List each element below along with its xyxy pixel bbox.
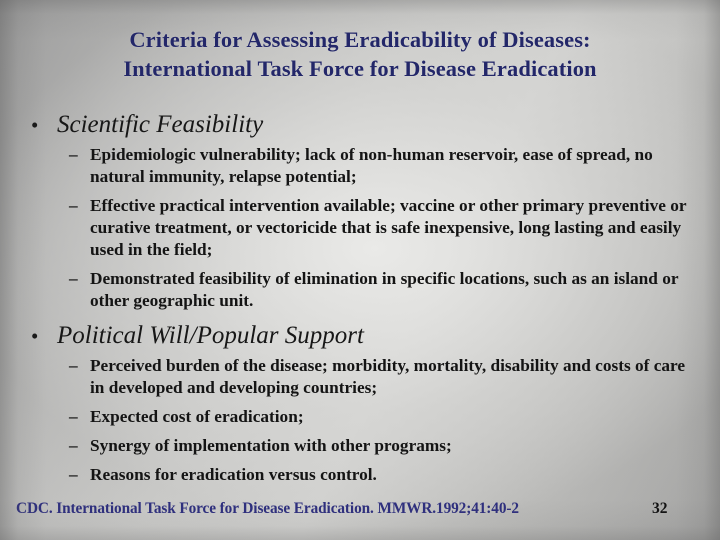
list-item-label: Epidemiologic vulnerability; lack of non… [90,145,653,186]
page-number: 32 [652,498,668,520]
dash-bullet-icon: – [69,435,78,457]
list-item-label: Perceived burden of the disease; morbidi… [90,356,685,397]
dash-bullet-icon: – [69,144,78,166]
list-item: – Effective practical intervention avail… [0,195,720,261]
slide-title-line-1: Criteria for Assessing Eradicability of … [22,25,698,54]
slide-title: Criteria for Assessing Eradicability of … [22,25,698,83]
list-item-label: Reasons for eradication versus control. [90,465,377,484]
slide-body: • Scientific Feasibility – Epidemiologic… [0,108,720,493]
list-item-label: Demonstrated feasibility of elimination … [90,269,678,310]
list-item: – Reasons for eradication versus control… [0,464,720,486]
list-item-label: Expected cost of eradication; [90,407,304,426]
slide-title-line-2: International Task Force for Disease Era… [22,54,698,83]
list-item: – Expected cost of eradication; [0,406,720,428]
list-item: – Perceived burden of the disease; morbi… [0,355,720,399]
list-item: – Synergy of implementation with other p… [0,435,720,457]
section-heading-label: Political Will/Popular Support [57,322,364,349]
citation-reference: CDC. International Task Force for Diseas… [16,498,519,520]
dash-bullet-icon: – [69,464,78,486]
section-heading-political-will: • Political Will/Popular Support [0,319,720,353]
list-item-label: Effective practical intervention availab… [90,196,686,259]
dash-bullet-icon: – [69,406,78,428]
bullet-dot-icon: • [31,319,38,353]
dash-bullet-icon: – [69,355,78,377]
dash-bullet-icon: – [69,195,78,217]
bullet-dot-icon: • [31,108,38,142]
list-item: – Epidemiologic vulnerability; lack of n… [0,144,720,188]
list-item: – Demonstrated feasibility of eliminatio… [0,268,720,312]
slide-footer: CDC. International Task Force for Diseas… [0,498,720,520]
section-heading-label: Scientific Feasibility [57,111,263,138]
section-heading-scientific-feasibility: • Scientific Feasibility [0,108,720,142]
list-item-label: Synergy of implementation with other pro… [90,436,452,455]
slide-canvas: Criteria for Assessing Eradicability of … [0,0,720,540]
dash-bullet-icon: – [69,268,78,290]
